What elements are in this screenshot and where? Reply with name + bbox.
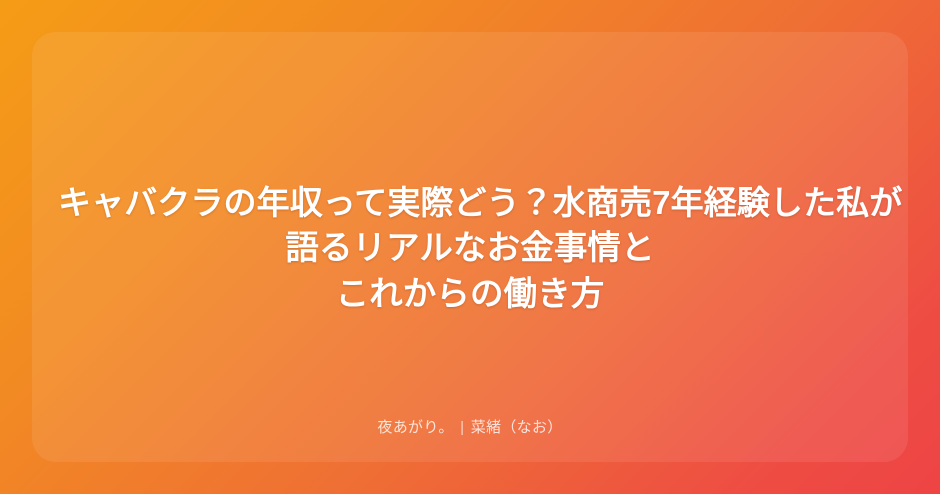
og-image-canvas: キャバクラの年収って実際どう？水商売7年経験した私が 語るリアルなお金事情と こ…	[0, 0, 940, 494]
page-title: キャバクラの年収って実際どう？水商売7年経験した私が 語るリアルなお金事情と こ…	[32, 180, 908, 318]
byline-site-name: 夜あがり。	[377, 419, 453, 436]
title-line-3: これからの働き方	[58, 272, 882, 318]
og-inner-card: キャバクラの年収って実際どう？水商売7年経験した私が 語るリアルなお金事情と こ…	[32, 32, 908, 462]
byline-author: 菜緒（なお）	[471, 419, 563, 436]
byline: 夜あがり。 | 菜緒（なお）	[32, 417, 908, 439]
byline-separator: |	[458, 417, 466, 439]
title-line-1: キャバクラの年収って実際どう？水商売7年経験した私が	[58, 180, 882, 226]
title-line-2: 語るリアルなお金事情と	[58, 226, 882, 272]
